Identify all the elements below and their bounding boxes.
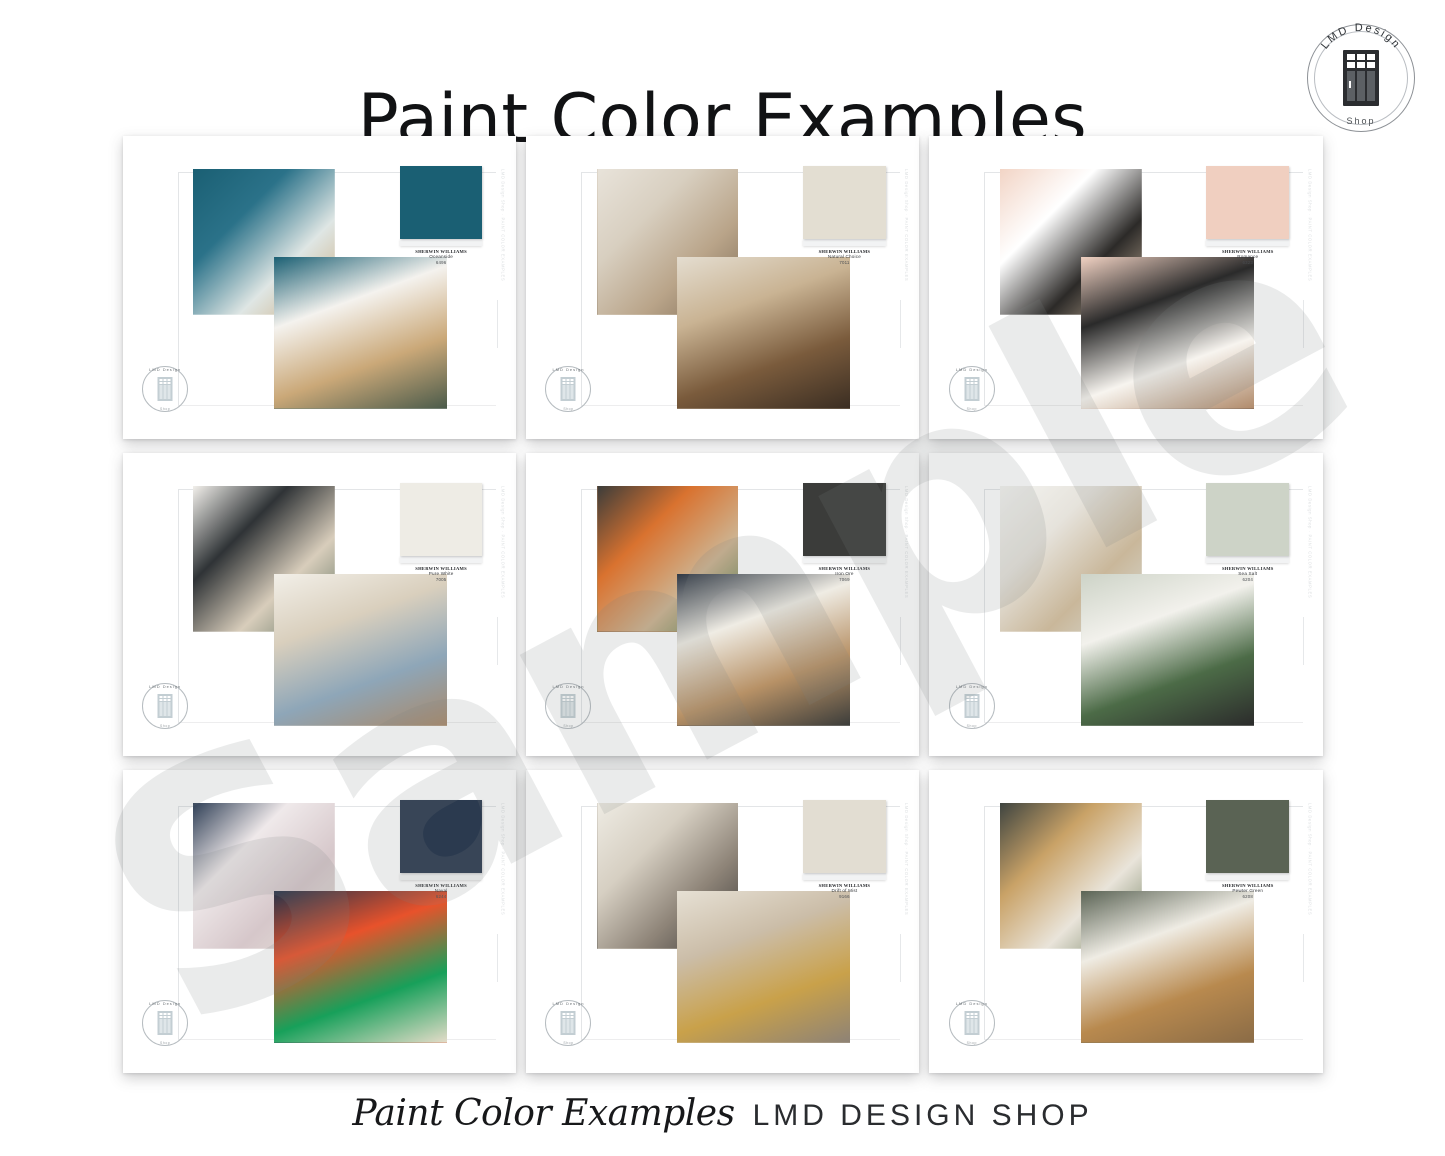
door-icon [158, 377, 173, 401]
badge-arc-bottom-label: Shop [1305, 116, 1417, 126]
door-panes [966, 379, 977, 384]
door-slats [966, 385, 977, 399]
room-photo-secondary [677, 891, 850, 1043]
room-photo-secondary [677, 574, 850, 726]
card-side-text: LMD Design Shop · PAINT COLOR EXAMPLES [501, 803, 506, 915]
card-logo-bottom-label: Shop [949, 1041, 995, 1045]
swatch-color-code: 6244 [400, 894, 483, 899]
card-logo-top-label: LMD Design [142, 1001, 188, 1006]
paint-card[interactable]: Sherwin WilliamsPewter Green6208LMD Desi… [929, 770, 1322, 1073]
door-icon [561, 377, 576, 401]
paint-swatch[interactable]: Sherwin WilliamsNaval6244 [400, 800, 483, 899]
badge-arc-top-label: LMD Design [1319, 22, 1403, 52]
swatch-color-code: 6208 [1206, 894, 1289, 899]
card-logo-bottom-label: Shop [142, 1041, 188, 1045]
card-logo-bottom-label: Shop [545, 724, 591, 728]
door-slats [966, 702, 977, 716]
swatch-caption: Sherwin WilliamsRomance6323 [1206, 249, 1289, 265]
brand-badge-logo: LMD Design Shop [1305, 22, 1417, 134]
room-photo-secondary [677, 257, 850, 409]
card-brand-logo: LMD DesignShop [949, 683, 995, 729]
card-logo-bottom-label: Shop [949, 407, 995, 411]
page-footer: Paint Color Examples LMD DESIGN SHOP [0, 1093, 1445, 1134]
card-logo-top-label: LMD Design [142, 367, 188, 372]
swatch-caption: Sherwin WilliamsIron Ore7069 [803, 566, 886, 582]
card-side-rule [900, 617, 901, 665]
door-panes [160, 1013, 171, 1018]
swatch-base [400, 556, 483, 563]
paint-card[interactable]: Sherwin WilliamsPure White7005LMD Design… [123, 453, 516, 756]
paint-card[interactable]: Sherwin WilliamsIron Ore7069LMD DesignSh… [526, 453, 919, 756]
door-icon [964, 694, 979, 718]
swatch-base [803, 556, 886, 563]
swatch-color-code: 7069 [803, 577, 886, 582]
swatch-color-code: 6496 [400, 260, 483, 265]
door-panes [563, 696, 574, 701]
room-photo-secondary [1081, 257, 1254, 409]
card-side-text: LMD Design Shop · PAINT COLOR EXAMPLES [1307, 803, 1312, 915]
swatch-base [803, 239, 886, 246]
card-brand-logo: LMD DesignShop [545, 683, 591, 729]
card-side-rule [497, 300, 498, 348]
card-side-rule [1303, 300, 1304, 348]
swatch-caption: Sherwin WilliamsDrift of Mist9166 [803, 883, 886, 899]
paint-swatch[interactable]: Sherwin WilliamsRomance6323 [1206, 166, 1289, 265]
card-side-text: LMD Design Shop · PAINT COLOR EXAMPLES [501, 169, 506, 281]
paint-swatch[interactable]: Sherwin WilliamsIron Ore7069 [803, 483, 886, 582]
swatch-chip [803, 800, 886, 873]
door-panes [160, 379, 171, 384]
paint-card[interactable]: Sherwin WilliamsNatural Choice7011LMD De… [526, 136, 919, 439]
card-brand-logo: LMD DesignShop [142, 1000, 188, 1046]
card-logo-top-label: LMD Design [545, 684, 591, 689]
card-brand-logo: LMD DesignShop [142, 366, 188, 412]
card-logo-top-label: LMD Design [949, 367, 995, 372]
footer-shop-text: LMD DESIGN SHOP [753, 1099, 1093, 1133]
swatch-color-code: 6323 [1206, 260, 1289, 265]
card-brand-logo: LMD DesignShop [545, 366, 591, 412]
card-side-rule [497, 934, 498, 982]
swatch-caption: Sherwin WilliamsNaval6244 [400, 883, 483, 899]
page-header: Paint Color Examples LMD Design Shop [0, 0, 1445, 136]
swatch-chip [400, 483, 483, 556]
card-logo-bottom-label: Shop [545, 1041, 591, 1045]
room-photo-secondary [274, 891, 447, 1043]
card-logo-bottom-label: Shop [142, 724, 188, 728]
card-brand-logo: LMD DesignShop [949, 366, 995, 412]
card-logo-top-label: LMD Design [142, 684, 188, 689]
door-slats [160, 1019, 171, 1033]
card-brand-logo: LMD DesignShop [545, 1000, 591, 1046]
swatch-color-code: 6204 [1206, 577, 1289, 582]
swatch-base [1206, 873, 1289, 880]
door-panes [966, 1013, 977, 1018]
door-icon [964, 377, 979, 401]
card-side-text: LMD Design Shop · PAINT COLOR EXAMPLES [904, 486, 909, 598]
swatch-base [400, 873, 483, 880]
door-slats [966, 1019, 977, 1033]
card-side-text: LMD Design Shop · PAINT COLOR EXAMPLES [1307, 169, 1312, 281]
paint-card[interactable]: Sherwin WilliamsOceanside6496LMD DesignS… [123, 136, 516, 439]
room-photo-secondary [1081, 891, 1254, 1043]
paint-card[interactable]: Sherwin WilliamsNaval6244LMD DesignShopL… [123, 770, 516, 1073]
card-logo-bottom-label: Shop [949, 724, 995, 728]
swatch-base [400, 239, 483, 246]
door-icon [561, 1011, 576, 1035]
card-side-rule [497, 617, 498, 665]
swatch-base [1206, 239, 1289, 246]
paint-swatch[interactable]: Sherwin WilliamsPewter Green6208 [1206, 800, 1289, 899]
paint-swatch[interactable]: Sherwin WilliamsDrift of Mist9166 [803, 800, 886, 899]
door-knob-icon [1349, 81, 1351, 88]
card-brand-logo: LMD DesignShop [949, 1000, 995, 1046]
card-logo-bottom-label: Shop [545, 407, 591, 411]
card-side-rule [900, 300, 901, 348]
card-side-text: LMD Design Shop · PAINT COLOR EXAMPLES [904, 169, 909, 281]
swatch-chip [400, 800, 483, 873]
paint-card[interactable]: Sherwin WilliamsSea Salt6204LMD DesignSh… [929, 453, 1322, 756]
door-icon [964, 1011, 979, 1035]
swatch-base [1206, 556, 1289, 563]
door-slats [563, 385, 574, 399]
swatch-color-code: 7005 [400, 577, 483, 582]
door-slats [563, 1019, 574, 1033]
card-side-rule [1303, 617, 1304, 665]
door-slats [1347, 71, 1375, 101]
swatch-caption: Sherwin WilliamsNatural Choice7011 [803, 249, 886, 265]
paint-card[interactable]: Sherwin WilliamsRomance6323LMD DesignSho… [929, 136, 1322, 439]
swatch-color-code: 9166 [803, 894, 886, 899]
card-side-text: LMD Design Shop · PAINT COLOR EXAMPLES [501, 486, 506, 598]
door-panes [160, 696, 171, 701]
card-side-text: LMD Design Shop · PAINT COLOR EXAMPLES [904, 803, 909, 915]
paint-swatch[interactable]: Sherwin WilliamsPure White7005 [400, 483, 483, 582]
swatch-chip [803, 166, 886, 239]
door-icon [1343, 50, 1379, 106]
door-slats [160, 385, 171, 399]
card-logo-bottom-label: Shop [142, 407, 188, 411]
room-photo-secondary [1081, 574, 1254, 726]
door-slats [160, 702, 171, 716]
card-side-rule [900, 934, 901, 982]
svg-text:LMD Design: LMD Design [1319, 22, 1403, 52]
door-panes [563, 379, 574, 384]
door-panes [563, 1013, 574, 1018]
swatch-chip [400, 166, 483, 239]
door-slats [563, 702, 574, 716]
swatch-caption: Sherwin WilliamsOceanside6496 [400, 249, 483, 265]
swatch-chip [1206, 483, 1289, 556]
swatch-chip [1206, 800, 1289, 873]
card-logo-top-label: LMD Design [949, 1001, 995, 1006]
card-brand-logo: LMD DesignShop [142, 683, 188, 729]
door-icon [158, 1011, 173, 1035]
swatch-chip [1206, 166, 1289, 239]
paint-swatch[interactable]: Sherwin WilliamsSea Salt6204 [1206, 483, 1289, 582]
door-icon [158, 694, 173, 718]
swatch-chip [803, 483, 886, 556]
room-photo-secondary [274, 574, 447, 726]
door-icon [561, 694, 576, 718]
card-logo-top-label: LMD Design [949, 684, 995, 689]
paint-card-grid: Sherwin WilliamsOceanside6496LMD DesignS… [123, 136, 1323, 1073]
paint-swatch[interactable]: Sherwin WilliamsNatural Choice7011 [803, 166, 886, 265]
door-panes [1347, 54, 1375, 68]
swatch-caption: Sherwin WilliamsPewter Green6208 [1206, 883, 1289, 899]
card-side-rule [1303, 934, 1304, 982]
room-photo-secondary [274, 257, 447, 409]
swatch-base [803, 873, 886, 880]
swatch-caption: Sherwin WilliamsPure White7005 [400, 566, 483, 582]
door-panes [966, 696, 977, 701]
paint-swatch[interactable]: Sherwin WilliamsOceanside6496 [400, 166, 483, 265]
card-side-text: LMD Design Shop · PAINT COLOR EXAMPLES [1307, 486, 1312, 598]
card-logo-top-label: LMD Design [545, 367, 591, 372]
footer-script-text: Paint Color Examples [352, 1093, 734, 1134]
swatch-color-code: 7011 [803, 260, 886, 265]
card-logo-top-label: LMD Design [545, 1001, 591, 1006]
swatch-caption: Sherwin WilliamsSea Salt6204 [1206, 566, 1289, 582]
paint-card[interactable]: Sherwin WilliamsDrift of Mist9166LMD Des… [526, 770, 919, 1073]
